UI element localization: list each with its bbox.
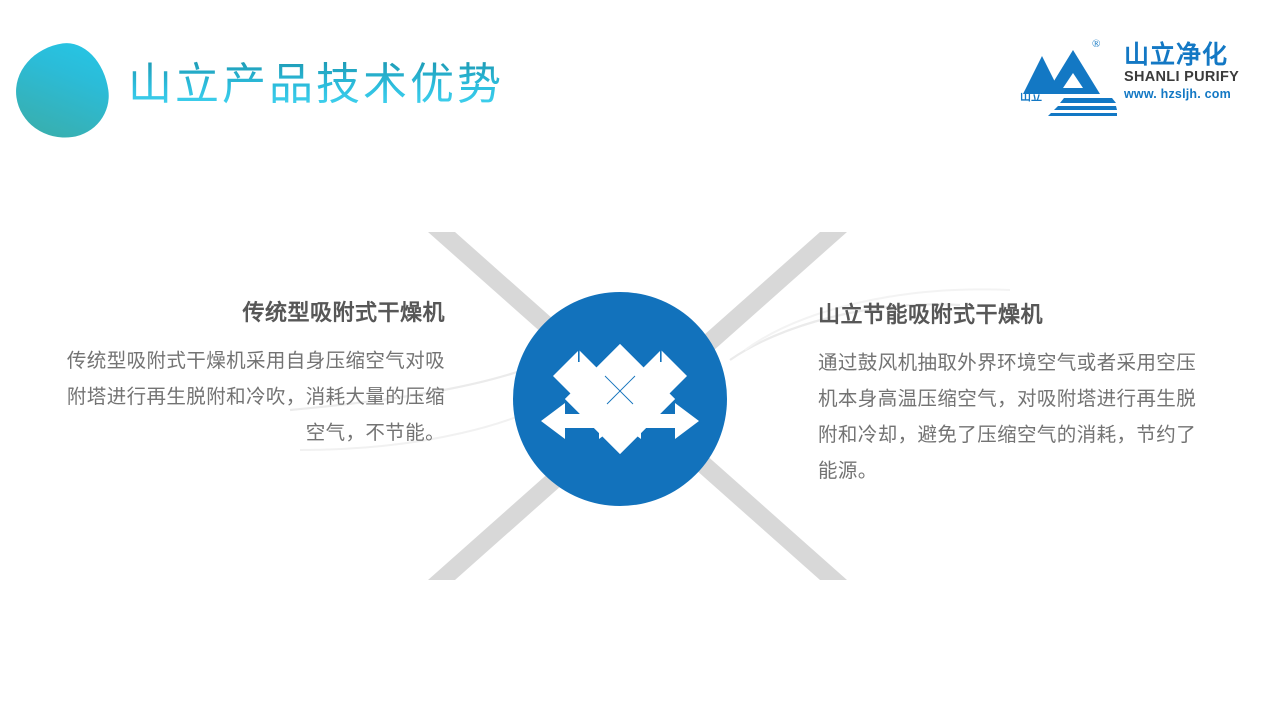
registered-trademark-icon: ®	[1092, 38, 1100, 50]
panel-traditional-body: 传统型吸附式干燥机采用自身压缩空气对吸附塔进行再生脱附和冷吹，消耗大量的压缩空气…	[55, 343, 445, 451]
slide-header: 山立产品技术优势 ® 山立 山立净化 SHANLI PURIFY www. hz…	[0, 0, 1280, 150]
logo-company-en: SHANLI PURIFY	[1124, 68, 1246, 87]
page-title: 山立产品技术优势	[128, 60, 504, 111]
panel-shanli-body: 通过鼓风机抽取外界环境空气或者采用空压机本身高温压缩空气，对吸附塔进行再生脱附和…	[818, 345, 1208, 489]
panel-shanli-energy-saving: 山立节能吸附式干燥机 通过鼓风机抽取外界环境空气或者采用空压机本身高温压缩空气，…	[818, 300, 1208, 489]
panel-traditional: 传统型吸附式干燥机 传统型吸附式干燥机采用自身压缩空气对吸附塔进行再生脱附和冷吹…	[55, 298, 445, 451]
panel-traditional-heading: 传统型吸附式干燥机	[55, 298, 445, 329]
logo-text-block: 山立净化 SHANLI PURIFY www. hzsljh. com	[1124, 42, 1246, 103]
panel-shanli-heading: 山立节能吸附式干燥机	[818, 300, 1208, 331]
center-hub-circle	[513, 292, 727, 506]
mountain-logo-icon	[1020, 40, 1118, 116]
exchange-diamond-arrows-icon	[513, 292, 727, 506]
slide-body: 传统型吸附式干燥机 传统型吸附式干燥机采用自身压缩空气对吸附塔进行再生脱附和冷吹…	[0, 150, 1280, 720]
company-logo: ® 山立 山立净化 SHANLI PURIFY www. hzsljh. com	[1020, 38, 1242, 118]
logo-company-cn: 山立净化	[1124, 42, 1246, 68]
logo-mark-label: 山立	[1020, 88, 1042, 104]
logo-website: www. hzsljh. com	[1124, 87, 1246, 103]
blob-shape-icon	[10, 38, 114, 144]
slide-root: 山立产品技术优势 ® 山立 山立净化 SHANLI PURIFY www. hz…	[0, 0, 1280, 720]
